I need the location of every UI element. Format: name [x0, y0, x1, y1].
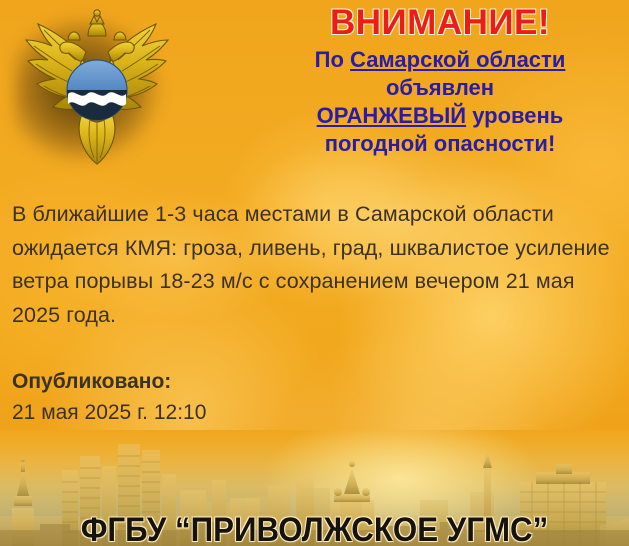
headline-line-4: погодной опасности!: [256, 130, 624, 158]
weather-warning-poster: ВНИМАНИЕ! По Самарской области объявлен …: [0, 0, 629, 546]
roshydromet-eagle-icon: [8, 6, 186, 170]
attention-title: ВНИМАНИЕ!: [256, 2, 624, 44]
published-label: Опубликовано:: [12, 366, 432, 397]
organization-name: ФГБУ “ПРИВОЛЖСКОЕ УГМС”: [25, 511, 604, 546]
headline-line-1: По Самарской области: [256, 46, 624, 74]
published-block: Опубликовано: 21 мая 2025 г. 12:10: [12, 366, 432, 428]
header-text-block: ВНИМАНИЕ! По Самарской области объявлен …: [256, 2, 624, 158]
headline-level-link[interactable]: ОРАНЖЕВЫЙ: [317, 103, 466, 128]
headline-prefix: По: [315, 47, 350, 72]
warning-body-text: В ближайшие 1-3 часа местами в Самарской…: [12, 198, 610, 332]
headline-line-3: ОРАНЖЕВЫЙ уровень: [256, 102, 624, 130]
headline-region-link[interactable]: Самарской области: [350, 47, 565, 72]
headline-line-2: объявлен: [256, 74, 624, 102]
globe-shield-icon: [67, 60, 127, 120]
published-datetime: 21 мая 2025 г. 12:10: [12, 397, 432, 428]
emblem-container: [8, 6, 186, 170]
headline-level-suffix: уровень: [466, 103, 563, 128]
footer-banner: ФГБУ “ПРИВОЛЖСКОЕ УГМС”: [0, 430, 629, 546]
